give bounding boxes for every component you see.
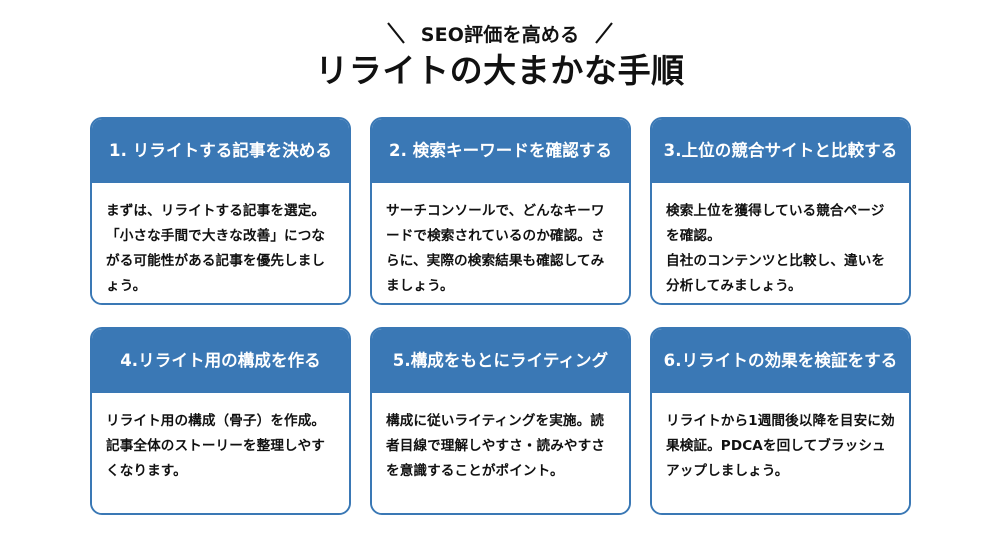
- step-card-6-body-text: リライトから1週間後以降を目安に効果検証。PDCAを回してブラッシュアップしまし…: [666, 413, 895, 479]
- eyebrow-text: SEO評価を高める: [421, 20, 580, 47]
- step-card-1-body: まずは、リライトする記事を選定。「小さな手間で大きな改善」につながる可能性がある…: [92, 183, 349, 305]
- step-card-6-heading: 6.リライトの効果を検証をする: [664, 351, 898, 371]
- step-card-4-body-text: リライト用の構成（骨子）を作成。記事全体のストーリーを整理しやすくなります。: [106, 413, 325, 479]
- step-card-1: 1. リライトする記事を決める まずは、リライトする記事を選定。「小さな手間で大…: [90, 117, 351, 305]
- step-card-4-heading: 4.リライト用の構成を作る: [120, 351, 321, 371]
- diagonal-slash-right-icon: [593, 20, 615, 46]
- step-card-3-body-text: 検索上位を獲得している競合ページを確認。 自社のコンテンツと比較し、違いを分析し…: [666, 203, 885, 294]
- step-card-6-header: 6.リライトの効果を検証をする: [652, 329, 909, 393]
- step-card-1-header: 1. リライトする記事を決める: [92, 119, 349, 183]
- step-card-2-heading: 2. 検索キーワードを確認する: [389, 141, 612, 161]
- infographic-page: SEO評価を高める リライトの大まかな手順 1. リライトする記事を決める まず…: [0, 0, 1000, 540]
- page-title: リライトの大まかな手順: [0, 52, 1000, 91]
- step-card-4: 4.リライト用の構成を作る リライト用の構成（骨子）を作成。記事全体のストーリー…: [90, 327, 351, 515]
- step-card-5-body-text: 構成に従いライティングを実施。読者目線で理解しやすさ・読みやすさを意識することが…: [386, 413, 605, 479]
- title-block: SEO評価を高める リライトの大まかな手順: [0, 18, 1000, 91]
- eyebrow-row: SEO評価を高める: [0, 18, 1000, 48]
- step-card-2-body: サーチコンソールで、どんなキーワードで検索されているのか確認。さらに、実際の検索…: [372, 183, 629, 305]
- step-card-1-body-text: まずは、リライトする記事を選定。「小さな手間で大きな改善」につながる可能性がある…: [106, 203, 325, 294]
- step-card-1-heading: 1. リライトする記事を決める: [109, 141, 332, 161]
- step-card-2-header: 2. 検索キーワードを確認する: [372, 119, 629, 183]
- step-card-2: 2. 検索キーワードを確認する サーチコンソールで、どんなキーワードで検索されて…: [370, 117, 631, 305]
- step-card-3-heading: 3.上位の競合サイトと比較する: [664, 141, 898, 161]
- diagonal-slash-left-icon: [385, 20, 407, 46]
- step-card-5: 5.構成をもとにライティング 構成に従いライティングを実施。読者目線で理解しやす…: [370, 327, 631, 515]
- step-card-6-body: リライトから1週間後以降を目安に効果検証。PDCAを回してブラッシュアップしまし…: [652, 393, 909, 513]
- step-card-2-body-text: サーチコンソールで、どんなキーワードで検索されているのか確認。さらに、実際の検索…: [386, 203, 605, 294]
- step-card-4-body: リライト用の構成（骨子）を作成。記事全体のストーリーを整理しやすくなります。: [92, 393, 349, 513]
- step-card-5-heading: 5.構成をもとにライティング: [393, 351, 609, 371]
- step-card-3-header: 3.上位の競合サイトと比較する: [652, 119, 909, 183]
- step-card-6: 6.リライトの効果を検証をする リライトから1週間後以降を目安に効果検証。PDC…: [650, 327, 911, 515]
- steps-grid: 1. リライトする記事を決める まずは、リライトする記事を選定。「小さな手間で大…: [90, 117, 911, 515]
- step-card-3: 3.上位の競合サイトと比較する 検索上位を獲得している競合ページを確認。 自社の…: [650, 117, 911, 305]
- step-card-5-body: 構成に従いライティングを実施。読者目線で理解しやすさ・読みやすさを意識することが…: [372, 393, 629, 513]
- step-card-5-header: 5.構成をもとにライティング: [372, 329, 629, 393]
- step-card-4-header: 4.リライト用の構成を作る: [92, 329, 349, 393]
- step-card-3-body: 検索上位を獲得している競合ページを確認。 自社のコンテンツと比較し、違いを分析し…: [652, 183, 909, 305]
